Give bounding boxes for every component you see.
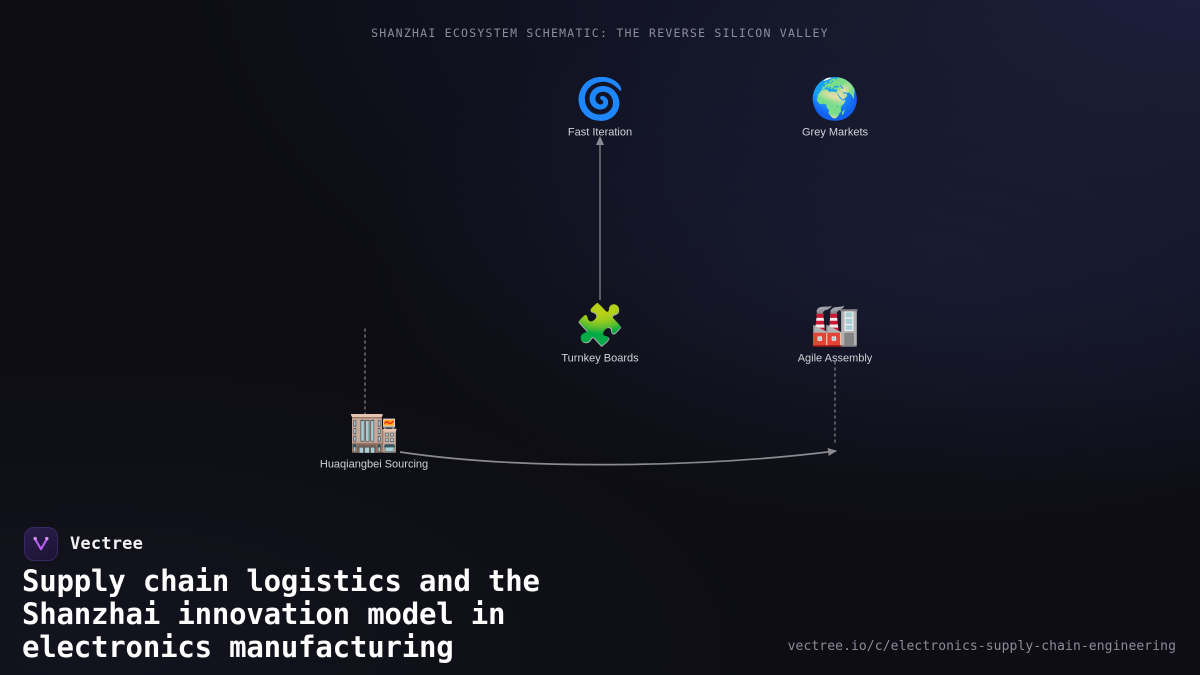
node-agile-assembly[interactable]: 🏭 Agile Assembly <box>745 303 925 366</box>
headline-line-3: electronics manufacturing <box>22 631 782 664</box>
puzzle-piece-icon: 🧩 <box>575 303 625 349</box>
brand-row[interactable]: Vectree <box>24 527 143 561</box>
node-label-huaqiangbei-sourcing: Huaqiangbei Sourcing <box>320 459 428 472</box>
node-label-turnkey-boards: Turnkey Boards <box>561 353 638 366</box>
globe-europe-africa-icon: 🌍 <box>810 77 860 123</box>
vectree-logo-icon <box>24 527 58 561</box>
node-turnkey-boards[interactable]: 🧩 Turnkey Boards <box>510 303 690 366</box>
headline-line-1: Supply chain logistics and the <box>22 565 782 598</box>
department-store-icon: 🏬 <box>349 409 399 455</box>
node-grey-markets[interactable]: 🌍 Grey Markets <box>745 77 925 140</box>
node-label-agile-assembly: Agile Assembly <box>798 353 873 366</box>
node-label-fast-iteration: Fast Iteration <box>568 127 632 140</box>
node-label-grey-markets: Grey Markets <box>802 127 868 140</box>
cyclone-icon: 🌀 <box>575 77 625 123</box>
edge-huaqiangbei-sourcing-to-agile-assembly <box>400 451 836 465</box>
diagram-edges <box>0 0 1200 500</box>
node-fast-iteration[interactable]: 🌀 Fast Iteration <box>510 77 690 140</box>
brand-name: Vectree <box>70 534 143 554</box>
factory-icon: 🏭 <box>810 303 860 349</box>
footer: Vectree Supply chain logistics and the S… <box>0 495 1200 675</box>
headline-line-2: Shanzhai innovation model in <box>22 598 782 631</box>
node-huaqiangbei-sourcing[interactable]: 🏬 Huaqiangbei Sourcing <box>284 409 464 472</box>
page-headline: Supply chain logistics and the Shanzhai … <box>22 565 782 664</box>
source-url: vectree.io/c/electronics-supply-chain-en… <box>788 639 1176 654</box>
ecosystem-diagram: 🌀 Fast Iteration 🌍 Grey Markets 🧩 Turnke… <box>0 0 1200 500</box>
